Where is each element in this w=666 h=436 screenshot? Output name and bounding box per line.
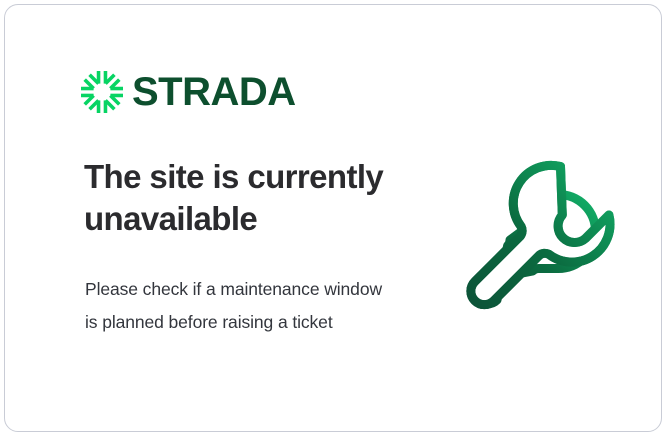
wrench-icon [460, 155, 620, 320]
brand-wordmark: STRADA [132, 72, 296, 112]
brand-lockup: STRADA [81, 71, 296, 113]
page-title: The site is currently unavailable [84, 156, 414, 240]
error-page: STRADA The site is currently unavailable… [0, 0, 666, 436]
status-card: STRADA The site is currently unavailable… [4, 4, 662, 432]
page-description: Please check if a maintenance window is … [85, 273, 390, 339]
strada-asterisk-icon [81, 71, 123, 113]
